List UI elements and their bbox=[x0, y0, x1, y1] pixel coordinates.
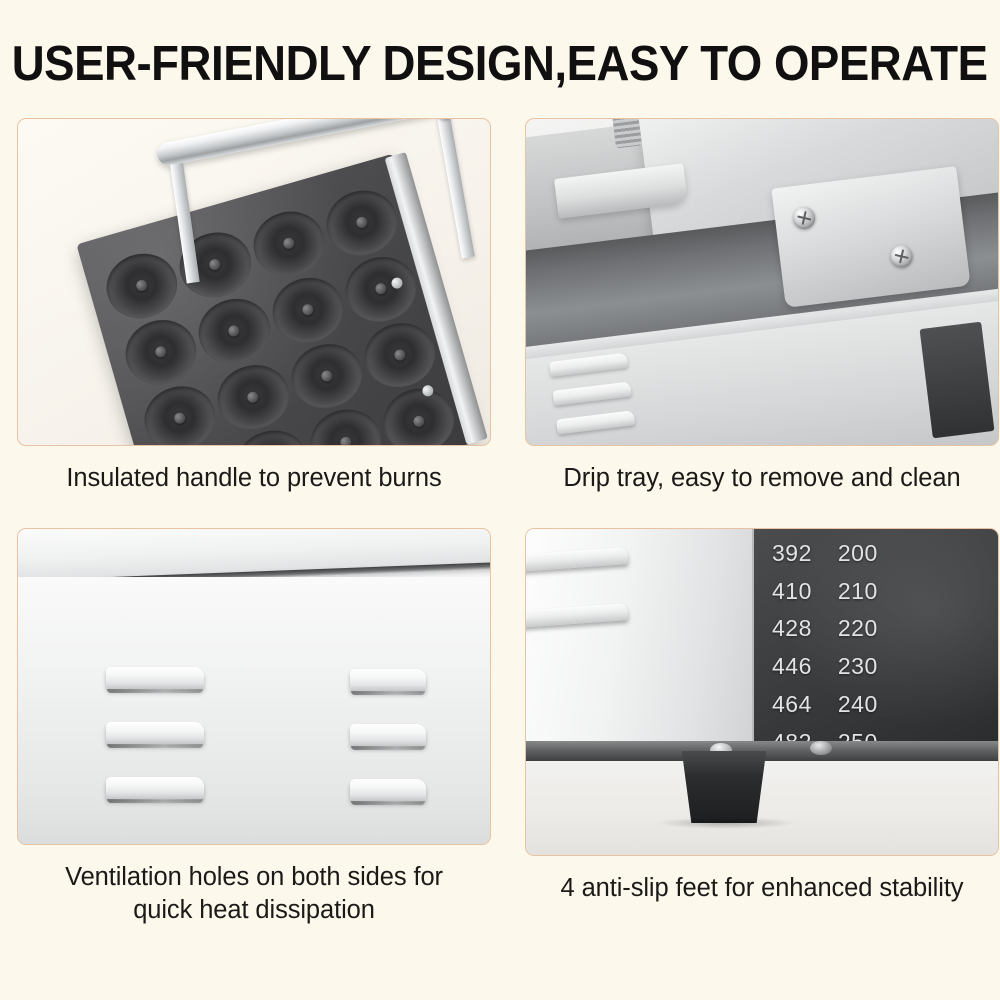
temp-c-value: 220 bbox=[838, 610, 878, 648]
vent-louver bbox=[106, 667, 204, 690]
feature-cell-insulated-handle: Insulated handle to prevent burns bbox=[8, 118, 500, 518]
caption-drip-tray: Drip tray, easy to remove and clean bbox=[563, 462, 960, 496]
photo-drip-tray bbox=[525, 118, 999, 446]
temp-c-value: 200 bbox=[838, 535, 878, 573]
header: USER-FRIENDLY DESIGN,EASY TO OPERATE bbox=[0, 0, 1000, 118]
temp-f-value: 464 bbox=[772, 686, 812, 724]
hinge-spring bbox=[612, 118, 642, 148]
tray-mount-bracket bbox=[771, 166, 970, 308]
housing-side-steel bbox=[526, 529, 754, 743]
donut-mold bbox=[264, 269, 350, 350]
vent-louver bbox=[106, 777, 204, 800]
temp-f-value: 410 bbox=[772, 573, 812, 611]
donut-mold bbox=[191, 290, 277, 371]
photo-insulated-handle bbox=[17, 118, 491, 446]
control-panel: 392 410 428 446 464 482 200 210 220 230 … bbox=[754, 529, 998, 743]
foot-mount-screw bbox=[810, 741, 832, 755]
temp-f-value: 446 bbox=[772, 648, 812, 686]
handle-arm-right bbox=[436, 118, 475, 259]
vent-louver bbox=[553, 381, 632, 405]
vent-louver bbox=[350, 779, 426, 802]
feature-grid: Insulated handle to prevent burns bbox=[0, 118, 1000, 1000]
ventilation-louver-group bbox=[106, 667, 426, 802]
temp-f-value: 392 bbox=[772, 535, 812, 573]
louver-column-right bbox=[350, 669, 426, 802]
temperature-scale-celsius: 200 210 220 230 240 250 bbox=[838, 535, 878, 761]
caption-anti-slip-feet: 4 anti-slip feet for enhanced stability bbox=[561, 872, 964, 906]
feature-cell-anti-slip-feet: 392 410 428 446 464 482 200 210 220 230 … bbox=[516, 528, 1000, 928]
caption-ventilation: Ventilation holes on both sides for quic… bbox=[65, 861, 443, 928]
temp-f-value: 428 bbox=[772, 610, 812, 648]
donut-mold bbox=[283, 336, 369, 417]
housing-dark-corner bbox=[920, 322, 995, 439]
vent-louver bbox=[350, 669, 426, 692]
vent-louver bbox=[350, 724, 426, 747]
vent-slot bbox=[525, 603, 628, 628]
donut-mold bbox=[210, 357, 296, 438]
vent-louver bbox=[106, 722, 204, 745]
photo-anti-slip-feet: 392 410 428 446 464 482 200 210 220 230 … bbox=[525, 528, 999, 856]
caption-insulated-handle: Insulated handle to prevent burns bbox=[66, 462, 441, 496]
temp-c-value: 240 bbox=[838, 686, 878, 724]
temp-c-value: 210 bbox=[838, 573, 878, 611]
side-vent-group bbox=[549, 353, 637, 446]
louver-column-left bbox=[106, 667, 204, 802]
vent-louver bbox=[556, 410, 635, 434]
donut-mold bbox=[302, 402, 388, 446]
feature-cell-ventilation: Ventilation holes on both sides for quic… bbox=[8, 528, 500, 928]
temperature-scale: 392 410 428 446 464 482 200 210 220 230 … bbox=[772, 535, 878, 761]
caption-ventilation-line2: quick heat dissipation bbox=[133, 896, 375, 924]
foot-shadow bbox=[656, 817, 796, 829]
caption-ventilation-line1: Ventilation holes on both sides for bbox=[65, 863, 443, 891]
temperature-scale-fahrenheit: 392 410 428 446 464 482 bbox=[772, 535, 812, 761]
photo-ventilation-holes bbox=[17, 528, 491, 845]
bracket-plate bbox=[771, 166, 970, 308]
temp-c-value: 230 bbox=[838, 648, 878, 686]
feature-cell-drip-tray: Drip tray, easy to remove and clean bbox=[516, 118, 1000, 518]
page-title: USER-FRIENDLY DESIGN,EASY TO OPERATE bbox=[12, 36, 988, 92]
vent-slot bbox=[525, 547, 628, 572]
donut-mold bbox=[137, 378, 223, 446]
anti-slip-foot bbox=[676, 751, 772, 823]
handle-bar bbox=[155, 118, 440, 167]
